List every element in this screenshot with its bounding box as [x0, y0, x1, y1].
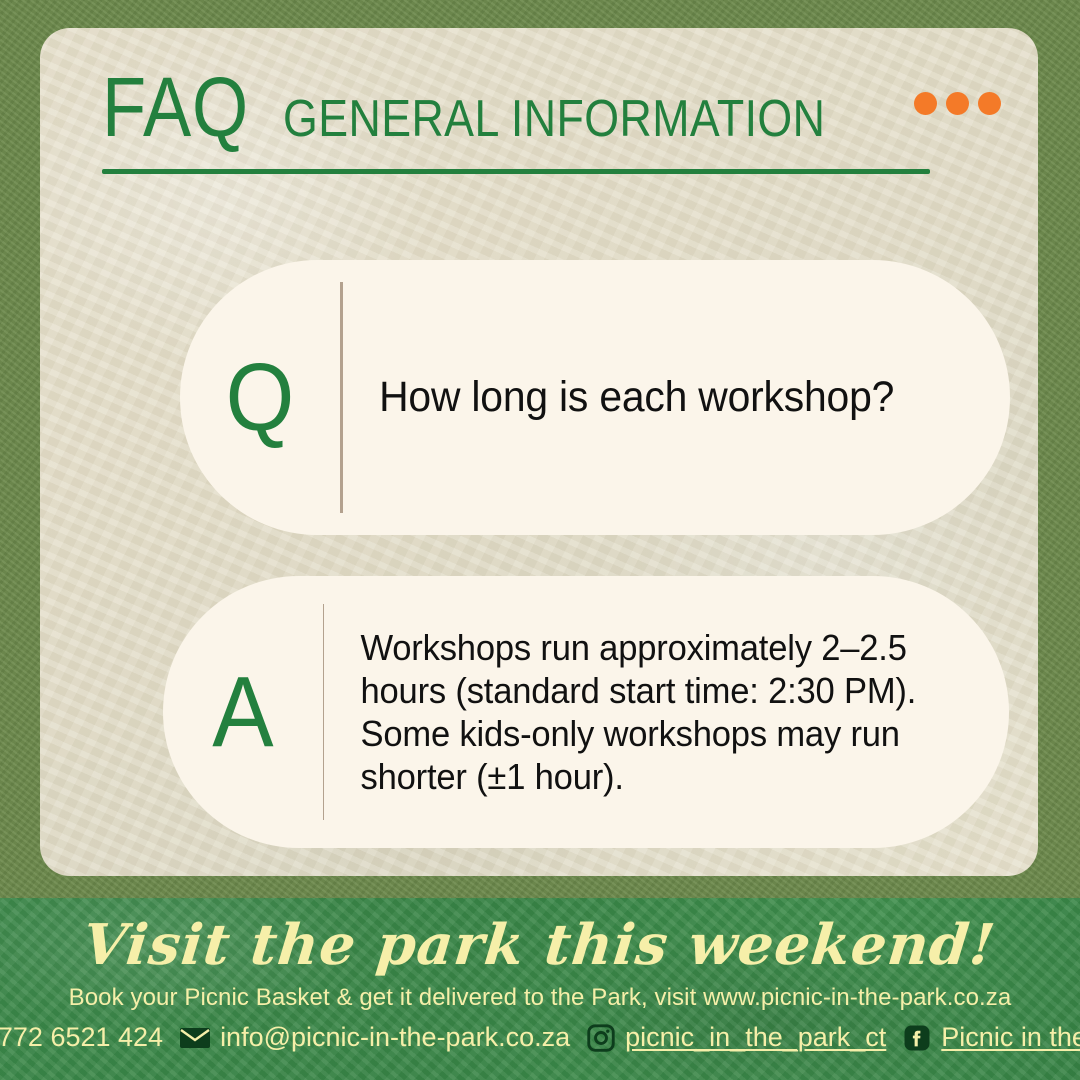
answer-card: A Workshops run approximately 2–2.5 hour… — [163, 576, 1009, 848]
dot-icon — [978, 92, 1001, 115]
email-icon — [179, 1025, 211, 1051]
email-address: info@picnic-in-the-park.co.za — [220, 1022, 570, 1053]
contact-instagram[interactable]: picnic_in_the_park_ct — [586, 1022, 886, 1053]
content-panel: FAQ GENERAL INFORMATION Q How long is ea… — [40, 28, 1038, 876]
header: FAQ GENERAL INFORMATION — [102, 68, 982, 174]
page-title: FAQ — [102, 68, 249, 148]
footer-contacts: +2772 6521 424 info@picnic-in-the-park.c… — [0, 1022, 1080, 1053]
title-row: FAQ GENERAL INFORMATION — [102, 68, 982, 149]
facebook-page: Picnic in the Park — [941, 1022, 1080, 1053]
footer-tagline: Visit the park this weekend! — [0, 898, 1080, 978]
answer-badge: A — [169, 662, 316, 762]
phone-number: +2772 6521 424 — [0, 1022, 163, 1053]
question-badge: Q — [186, 350, 333, 446]
dot-icon — [946, 92, 969, 115]
footer-banner: Visit the park this weekend! Book your P… — [0, 898, 1080, 1080]
header-divider — [102, 169, 930, 174]
facebook-icon — [902, 1023, 932, 1053]
answer-text: Workshops run approximately 2–2.5 hours … — [324, 626, 982, 799]
contact-phone[interactable]: +2772 6521 424 — [0, 1022, 163, 1053]
contact-facebook[interactable]: Picnic in the Park — [902, 1022, 1080, 1053]
question-card: Q How long is each workshop? — [180, 260, 1010, 535]
instagram-icon — [586, 1023, 616, 1053]
page-subtitle: GENERAL INFORMATION — [283, 89, 825, 149]
footer-booking-line: Book your Picnic Basket & get it deliver… — [0, 984, 1080, 1012]
question-text: How long is each workshop? — [343, 373, 894, 422]
instagram-handle: picnic_in_the_park_ct — [625, 1022, 886, 1053]
decorative-dots — [914, 92, 1001, 125]
dot-icon — [914, 92, 937, 115]
contact-email[interactable]: info@picnic-in-the-park.co.za — [179, 1022, 570, 1053]
